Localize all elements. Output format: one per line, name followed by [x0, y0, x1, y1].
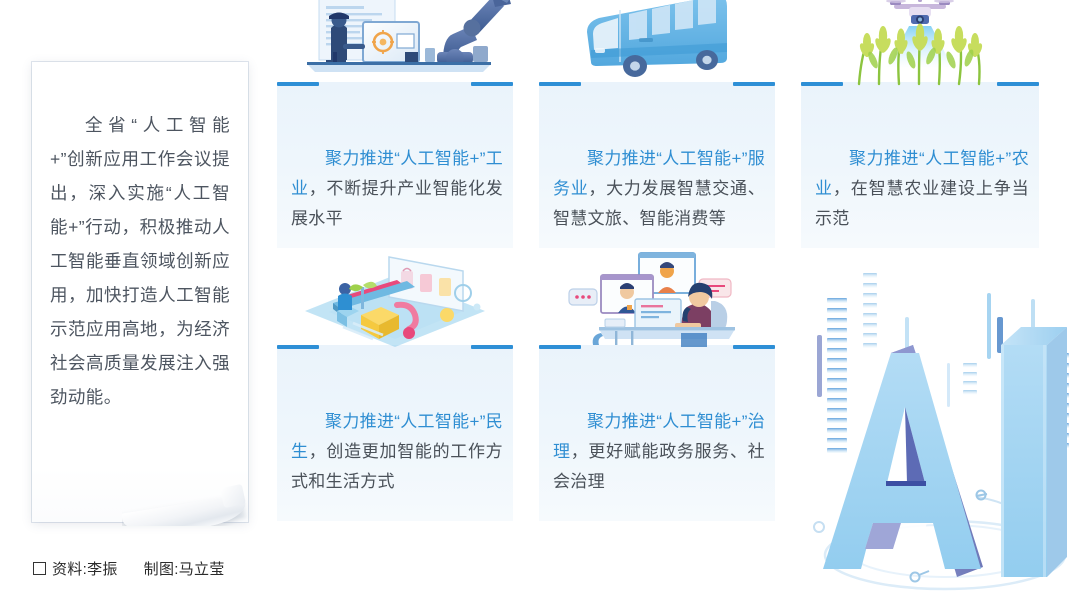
card-agriculture[interactable]: 聚力推进“人工智能+”农业，在智慧农业建设上争当示范: [801, 82, 1039, 248]
intro-note-text: 全省“人工智能+”创新应用工作会议提出，深入实施“人工智能+”行动，积极推动人工…: [50, 108, 230, 414]
intro-note-panel: 全省“人工智能+”创新应用工作会议提出，深入实施“人工智能+”行动，积极推动人工…: [32, 62, 248, 522]
card-service-text: 聚力推进“人工智能+”服务业，大力发展智慧交通、智慧文旅、智能消费等: [553, 144, 765, 234]
factory-robot-arm-icon: [277, 0, 513, 82]
card-industry-text: 聚力推进“人工智能+”工业，不断提升产业智能化发展水平: [291, 144, 503, 234]
card-livelihood[interactable]: 聚力推进“人工智能+”民生，创造更加智能的工作方式和生活方式: [277, 345, 513, 521]
video-conference-icon: [539, 249, 775, 345]
card-agriculture-rest: ，在智慧农业建设上争当示范: [815, 179, 1029, 228]
card-livelihood-rest: ，创造更加智能的工作方式和生活方式: [291, 442, 503, 491]
card-governance[interactable]: 聚力推进“人工智能+”治理，更好赋能政务服务、社会治理: [539, 345, 775, 521]
card-industry-rest: ，不断提升产业智能化发展水平: [291, 179, 503, 228]
card-industry[interactable]: 聚力推进“人工智能+”工业，不断提升产业智能化发展水平: [277, 82, 513, 248]
card-service[interactable]: 聚力推进“人工智能+”服务业，大力发展智慧交通、智慧文旅、智能消费等: [539, 82, 775, 248]
card-livelihood-text: 聚力推进“人工智能+”民生，创造更加智能的工作方式和生活方式: [291, 407, 503, 497]
source-credit: 资料:李振: [52, 558, 118, 579]
designer-credit: 制图:马立莹: [144, 558, 225, 579]
drone-wheat-icon: [801, 0, 1039, 82]
bullet-square-icon: [33, 562, 46, 575]
card-agriculture-text: 聚力推进“人工智能+”农业，在智慧农业建设上争当示范: [815, 144, 1029, 234]
bus-icon: [539, 0, 775, 82]
smart-retail-icon: [277, 249, 513, 345]
card-governance-rest: ，更好赋能政务服务、社会治理: [553, 442, 765, 491]
ai-3d-letters-icon: [795, 255, 1080, 603]
credits-caption: 资料:李振 制图:马立莹: [33, 558, 225, 579]
card-governance-text: 聚力推进“人工智能+”治理，更好赋能政务服务、社会治理: [553, 407, 765, 497]
